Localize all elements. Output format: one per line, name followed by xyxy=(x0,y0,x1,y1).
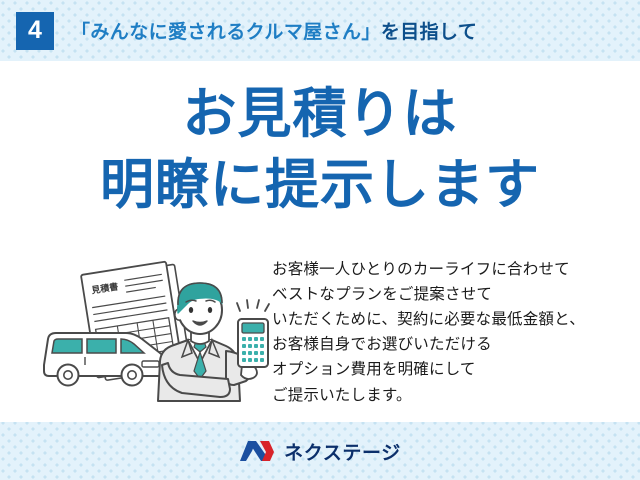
body-line-1: お客様一人ひとりのカーライフに合わせて xyxy=(272,257,632,282)
body-line-6: ご提示いたします。 xyxy=(272,383,632,408)
body-line-3: いただくために、契約に必要な最低金額と、 xyxy=(272,307,632,332)
calculator-icon xyxy=(238,319,268,367)
van-icon xyxy=(44,333,164,386)
body-line-2: ベストなプランをご提案させて xyxy=(272,282,632,307)
brand-logo-text: ネクステージ xyxy=(284,438,401,465)
sparkle-icon xyxy=(237,300,269,311)
illustration-svg: 見積書 xyxy=(30,253,278,413)
body-line-5: オプション費用を明確にして xyxy=(272,357,632,382)
body-line-4: お客様自身でお選びいただける xyxy=(272,332,632,357)
illustration-salesperson-estimate: 見積書 xyxy=(30,253,278,413)
body-paragraph: お客様一人ひとりのカーライフに合わせて ベストなプランをご提案させて いただくた… xyxy=(272,257,632,408)
page-title-line-2: 明瞭に提示します xyxy=(0,150,640,221)
header-title-quoted: 「みんなに愛されるクルマ屋さん」 xyxy=(71,22,381,43)
section-number-badge: 4 xyxy=(16,12,54,50)
page-title-line-1: お見積りは xyxy=(0,79,640,150)
header-title-tail: を目指して xyxy=(381,22,477,43)
page-title: お見積りは 明瞭に提示します xyxy=(0,79,640,222)
header-bar: 4 「みんなに愛されるクルマ屋さん」を目指して xyxy=(0,0,640,61)
header-title: 「みんなに愛されるクルマ屋さん」を目指して xyxy=(71,17,477,44)
brand-logo: ネクステージ xyxy=(0,422,640,480)
nextage-n-mark-icon xyxy=(239,440,275,462)
promo-banner: 4 「みんなに愛されるクルマ屋さん」を目指して お見積りは 明瞭に提示します お… xyxy=(0,0,640,480)
content-card: お見積りは 明瞭に提示します お客様一人ひとりのカーライフに合わせて ベストなプ… xyxy=(0,61,640,422)
